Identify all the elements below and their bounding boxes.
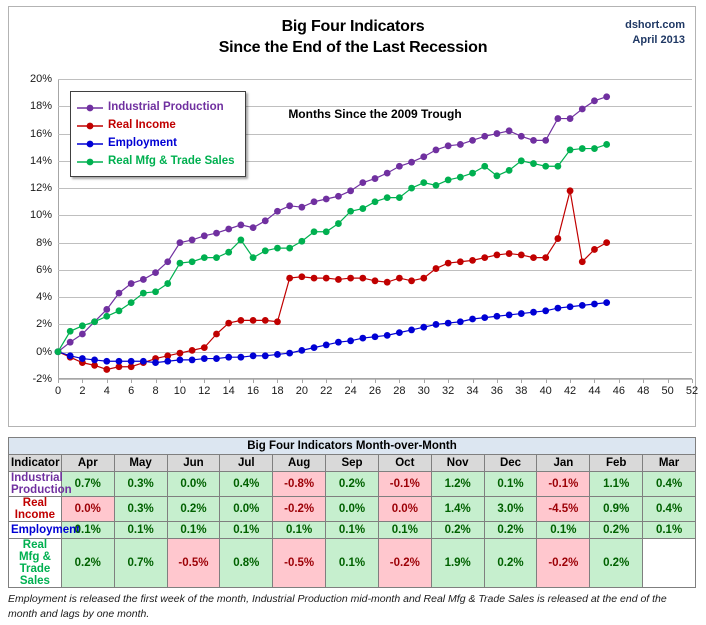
data-point xyxy=(103,358,110,365)
plot-area: -2%0%2%4%6%8%10%12%14%16%18%20% 02468101… xyxy=(58,79,692,379)
data-point xyxy=(445,260,452,267)
x-axis-tick xyxy=(351,379,352,383)
table-cell: 0.2% xyxy=(590,539,643,588)
table-cell: 0.2% xyxy=(167,497,220,522)
data-point xyxy=(579,258,586,265)
x-axis-tick xyxy=(546,379,547,383)
table-cell: -0.1% xyxy=(378,472,431,497)
x-axis-tick xyxy=(204,379,205,383)
data-point xyxy=(250,352,257,359)
data-point xyxy=(481,254,488,261)
column-header-oct: Oct xyxy=(378,455,431,472)
data-point xyxy=(140,276,147,283)
chart-legend: Industrial ProductionReal IncomeEmployme… xyxy=(70,91,246,177)
data-point xyxy=(250,317,257,324)
table-cell: 0.2% xyxy=(61,539,114,588)
data-point xyxy=(323,196,330,203)
data-point xyxy=(579,302,586,309)
column-header-dec: Dec xyxy=(484,455,537,472)
data-point xyxy=(347,337,354,344)
table-cell: 0.3% xyxy=(114,497,167,522)
table-footnote: Employment is released the first week of… xyxy=(8,592,694,622)
data-point xyxy=(152,269,159,276)
column-header-jul: Jul xyxy=(220,455,273,472)
data-point xyxy=(420,179,427,186)
column-header-jan: Jan xyxy=(537,455,590,472)
data-point xyxy=(494,252,501,259)
table-cell: 0.1% xyxy=(484,472,537,497)
x-axis-tick xyxy=(156,379,157,383)
x-axis-tick xyxy=(107,379,108,383)
data-point xyxy=(457,318,464,325)
x-axis-tick xyxy=(521,379,522,383)
data-point xyxy=(530,309,537,316)
chart-title-line2: Since the End of the Last Recession xyxy=(9,37,697,58)
column-header-may: May xyxy=(114,455,167,472)
data-point xyxy=(237,222,244,229)
data-point xyxy=(591,301,598,308)
x-axis-tick xyxy=(619,379,620,383)
x-axis-tick xyxy=(253,379,254,383)
data-point xyxy=(67,328,74,335)
data-point xyxy=(201,344,208,351)
x-axis-tick xyxy=(448,379,449,383)
data-point xyxy=(335,339,342,346)
data-point xyxy=(384,332,391,339)
data-point xyxy=(396,329,403,336)
x-axis-tick-label: 46 xyxy=(613,385,625,397)
row-label: Industrial Production xyxy=(9,472,62,497)
x-axis-tick xyxy=(277,379,278,383)
data-point xyxy=(103,313,110,320)
table-cell: 0.1% xyxy=(220,522,273,539)
data-point xyxy=(250,254,257,261)
table-cell: 0.0% xyxy=(61,497,114,522)
x-axis-tick-label: 16 xyxy=(247,385,259,397)
table-cell: -0.5% xyxy=(273,539,326,588)
x-axis-tick xyxy=(58,379,59,383)
data-point xyxy=(433,147,440,154)
data-point xyxy=(128,299,135,306)
x-axis-tick-label: 20 xyxy=(296,385,308,397)
data-point xyxy=(518,310,525,317)
data-point xyxy=(457,174,464,181)
data-point xyxy=(189,357,196,364)
data-point xyxy=(347,208,354,215)
table-cell: 0.1% xyxy=(326,539,379,588)
x-axis-tick xyxy=(302,379,303,383)
x-axis-tick-label: 22 xyxy=(320,385,332,397)
data-point xyxy=(274,318,281,325)
table-cell: 0.3% xyxy=(114,472,167,497)
data-point xyxy=(116,307,123,314)
x-axis-tick-label: 48 xyxy=(637,385,649,397)
data-point xyxy=(201,254,208,261)
x-axis-tick-label: 12 xyxy=(198,385,210,397)
table-cell: 0.2% xyxy=(431,522,484,539)
data-point xyxy=(323,228,330,235)
data-point xyxy=(177,357,184,364)
data-point xyxy=(554,163,561,170)
table-cell: 0.1% xyxy=(643,522,696,539)
data-point xyxy=(494,172,501,179)
x-axis-tick xyxy=(473,379,474,383)
data-point xyxy=(225,249,232,256)
data-point xyxy=(359,179,366,186)
data-point xyxy=(347,187,354,194)
data-point xyxy=(445,177,452,184)
data-point xyxy=(603,299,610,306)
table-cell: 3.0% xyxy=(484,497,537,522)
screenshot-root: Big Four Indicators Since the End of the… xyxy=(0,0,706,625)
data-point xyxy=(335,193,342,200)
data-point xyxy=(530,160,537,167)
table-cell: 0.7% xyxy=(114,539,167,588)
data-point xyxy=(262,317,269,324)
data-point xyxy=(177,350,184,357)
series-real-income xyxy=(55,187,610,372)
x-axis-title: Months Since the 2009 Trough xyxy=(58,107,692,121)
x-axis-tick xyxy=(375,379,376,383)
table-cell: 0.0% xyxy=(326,497,379,522)
y-axis-tick-label: 16% xyxy=(30,128,52,140)
table-cell: 0.1% xyxy=(114,522,167,539)
x-axis-tick-label: 38 xyxy=(515,385,527,397)
data-point xyxy=(152,288,159,295)
x-axis-tick xyxy=(399,379,400,383)
x-axis-tick xyxy=(326,379,327,383)
data-point xyxy=(91,318,98,325)
data-point xyxy=(189,347,196,354)
table-cell: 0.1% xyxy=(273,522,326,539)
data-point xyxy=(311,198,318,205)
data-point xyxy=(177,260,184,267)
data-point xyxy=(55,348,62,355)
table-cell: -0.8% xyxy=(273,472,326,497)
x-axis-tick-label: 24 xyxy=(344,385,356,397)
table-cell: -0.1% xyxy=(537,472,590,497)
table-cell: 0.1% xyxy=(537,522,590,539)
data-point xyxy=(128,358,135,365)
x-axis-tick xyxy=(180,379,181,383)
column-header-aug: Aug xyxy=(273,455,326,472)
data-point xyxy=(518,252,525,259)
data-point xyxy=(298,238,305,245)
data-point xyxy=(591,145,598,152)
data-point xyxy=(408,277,415,284)
data-point xyxy=(506,127,513,134)
x-axis-tick xyxy=(692,379,693,383)
data-point xyxy=(445,320,452,327)
data-point xyxy=(433,321,440,328)
table-header-row: IndicatorAprMayJunJulAugSepOctNovDecJanF… xyxy=(9,455,696,472)
table-cell: -0.5% xyxy=(167,539,220,588)
data-point xyxy=(274,208,281,215)
month-over-month-panel: Big Four Indicators Month-over-Month Ind… xyxy=(8,437,696,622)
data-point xyxy=(286,275,293,282)
data-point xyxy=(408,159,415,166)
row-label: Employment xyxy=(9,522,62,539)
data-point xyxy=(420,324,427,331)
x-axis-tick-label: 30 xyxy=(418,385,430,397)
x-axis-tick xyxy=(82,379,83,383)
data-point xyxy=(225,320,232,327)
x-axis-tick xyxy=(497,379,498,383)
data-point xyxy=(518,157,525,164)
x-axis-tick-label: 0 xyxy=(55,385,61,397)
data-point xyxy=(237,354,244,361)
data-point xyxy=(311,275,318,282)
data-point xyxy=(494,130,501,137)
data-point xyxy=(201,355,208,362)
y-axis-tick-label: -2% xyxy=(32,373,52,385)
data-point xyxy=(91,357,98,364)
data-point xyxy=(164,280,171,287)
y-axis-tick-label: 0% xyxy=(36,346,52,358)
x-axis-tick xyxy=(643,379,644,383)
data-point xyxy=(494,313,501,320)
data-point xyxy=(554,235,561,242)
data-point xyxy=(116,358,123,365)
data-point xyxy=(213,230,220,237)
table-cell: 1.9% xyxy=(431,539,484,588)
x-axis-tick-label: 50 xyxy=(661,385,673,397)
legend-label: Employment xyxy=(108,137,177,149)
data-point xyxy=(384,194,391,201)
data-point xyxy=(481,133,488,140)
data-point xyxy=(591,97,598,104)
data-point xyxy=(286,245,293,252)
data-point xyxy=(542,137,549,144)
table-cell: 0.8% xyxy=(220,539,273,588)
data-point xyxy=(274,351,281,358)
table-cell: 0.1% xyxy=(326,522,379,539)
x-axis-tick xyxy=(229,379,230,383)
table-row: Industrial Production0.7%0.3%0.0%0.4%-0.… xyxy=(9,472,696,497)
x-axis-tick xyxy=(131,379,132,383)
data-point xyxy=(225,226,232,233)
data-point xyxy=(469,137,476,144)
x-axis-tick xyxy=(570,379,571,383)
data-point xyxy=(567,303,574,310)
x-axis-tick-label: 40 xyxy=(540,385,552,397)
table-title-row: Big Four Indicators Month-over-Month xyxy=(9,438,696,455)
data-point xyxy=(79,331,86,338)
table-cell: 0.2% xyxy=(590,522,643,539)
data-point xyxy=(603,239,610,246)
data-point xyxy=(103,366,110,373)
data-point xyxy=(457,141,464,148)
data-point xyxy=(530,137,537,144)
x-axis-tick-label: 32 xyxy=(442,385,454,397)
data-point xyxy=(262,217,269,224)
data-point xyxy=(469,170,476,177)
data-point xyxy=(359,275,366,282)
data-point xyxy=(542,163,549,170)
month-over-month-table: Big Four Indicators Month-over-Month Ind… xyxy=(8,437,696,588)
data-point xyxy=(177,239,184,246)
x-axis-tick-label: 52 xyxy=(686,385,698,397)
legend-label: Real Mfg & Trade Sales xyxy=(108,155,235,167)
series-line xyxy=(58,303,607,363)
data-point xyxy=(445,142,452,149)
y-axis-tick-label: 20% xyxy=(30,73,52,85)
y-axis-tick-label: 2% xyxy=(36,318,52,330)
data-point xyxy=(286,350,293,357)
data-point xyxy=(542,254,549,261)
legend-marker-icon xyxy=(77,137,103,149)
data-point xyxy=(433,182,440,189)
data-point xyxy=(603,141,610,148)
column-header-jun: Jun xyxy=(167,455,220,472)
data-point xyxy=(481,163,488,170)
data-point xyxy=(567,147,574,154)
x-axis-tick-label: 34 xyxy=(466,385,478,397)
column-header-indicator: Indicator xyxy=(9,455,62,472)
data-point xyxy=(530,254,537,261)
data-point xyxy=(213,331,220,338)
data-point xyxy=(518,133,525,140)
data-point xyxy=(359,205,366,212)
y-axis-tick-label: 4% xyxy=(36,291,52,303)
data-point xyxy=(286,202,293,209)
data-point xyxy=(311,228,318,235)
column-header-sep: Sep xyxy=(326,455,379,472)
table-cell: -4.5% xyxy=(537,497,590,522)
data-point xyxy=(140,358,147,365)
data-point xyxy=(396,194,403,201)
data-point xyxy=(262,247,269,254)
x-axis-tick-label: 14 xyxy=(223,385,235,397)
x-axis-tick-label: 2 xyxy=(79,385,85,397)
x-axis-tick xyxy=(668,379,669,383)
data-point xyxy=(140,290,147,297)
x-axis-tick-label: 26 xyxy=(369,385,381,397)
data-point xyxy=(384,279,391,286)
y-axis-tick-label: 10% xyxy=(30,209,52,221)
y-axis-tick-label: 14% xyxy=(30,155,52,167)
data-point xyxy=(372,277,379,284)
data-point xyxy=(347,275,354,282)
data-point xyxy=(384,170,391,177)
data-point xyxy=(164,358,171,365)
data-point xyxy=(213,355,220,362)
data-point xyxy=(79,322,86,329)
table-cell xyxy=(643,539,696,588)
y-axis-tick-label: 12% xyxy=(30,182,52,194)
table-cell: 1.1% xyxy=(590,472,643,497)
data-point xyxy=(298,273,305,280)
table-cell: 1.2% xyxy=(431,472,484,497)
data-point xyxy=(189,258,196,265)
x-axis-tick-label: 28 xyxy=(393,385,405,397)
table-cell: 0.4% xyxy=(643,472,696,497)
table-cell: -0.2% xyxy=(273,497,326,522)
column-header-mar: Mar xyxy=(643,455,696,472)
data-point xyxy=(250,224,257,231)
data-point xyxy=(420,275,427,282)
data-point xyxy=(469,257,476,264)
chart-title: Big Four Indicators Since the End of the… xyxy=(9,16,697,58)
table-cell: -0.2% xyxy=(378,539,431,588)
y-axis-tick-label: 6% xyxy=(36,264,52,276)
table-cell: 1.4% xyxy=(431,497,484,522)
table-cell: 0.0% xyxy=(378,497,431,522)
data-point xyxy=(396,163,403,170)
data-point xyxy=(579,145,586,152)
table-cell: 0.1% xyxy=(167,522,220,539)
data-point xyxy=(116,290,123,297)
data-point xyxy=(79,355,86,362)
x-axis-tick xyxy=(594,379,595,383)
y-axis-tick-label: 8% xyxy=(36,237,52,249)
data-point xyxy=(481,314,488,321)
data-point xyxy=(603,93,610,100)
legend-item[interactable]: Employment xyxy=(77,134,235,152)
table-cell: 0.2% xyxy=(484,539,537,588)
data-point xyxy=(408,327,415,334)
row-label: Real Income xyxy=(9,497,62,522)
x-axis-tick-label: 44 xyxy=(588,385,600,397)
x-axis-tick xyxy=(424,379,425,383)
data-point xyxy=(469,316,476,323)
data-point xyxy=(567,187,574,194)
data-point xyxy=(298,347,305,354)
credit-source: dshort.com xyxy=(625,18,685,33)
data-point xyxy=(67,339,74,346)
data-point xyxy=(152,359,159,366)
table-cell: 0.1% xyxy=(378,522,431,539)
data-point xyxy=(359,335,366,342)
data-point xyxy=(554,305,561,312)
data-point xyxy=(591,246,598,253)
data-point xyxy=(298,204,305,211)
data-point xyxy=(372,175,379,182)
data-point xyxy=(372,333,379,340)
x-axis-tick-label: 42 xyxy=(564,385,576,397)
data-point xyxy=(396,275,403,282)
data-point xyxy=(189,237,196,244)
data-point xyxy=(323,342,330,349)
series-employment xyxy=(55,299,610,366)
x-axis-tick-label: 6 xyxy=(128,385,134,397)
data-point xyxy=(128,280,135,287)
x-axis-tick-label: 18 xyxy=(271,385,283,397)
table-title: Big Four Indicators Month-over-Month xyxy=(9,438,696,455)
y-axis-tick-label: 18% xyxy=(30,100,52,112)
data-point xyxy=(225,354,232,361)
data-point xyxy=(335,220,342,227)
data-point xyxy=(372,198,379,205)
x-axis-tick-label: 10 xyxy=(174,385,186,397)
data-point xyxy=(506,312,513,319)
x-axis-tick-label: 4 xyxy=(104,385,110,397)
data-point xyxy=(506,250,513,257)
column-header-feb: Feb xyxy=(590,455,643,472)
data-point xyxy=(237,237,244,244)
table-cell: -0.2% xyxy=(537,539,590,588)
data-point xyxy=(237,317,244,324)
data-point xyxy=(457,258,464,265)
data-point xyxy=(542,307,549,314)
data-point xyxy=(408,185,415,192)
data-point xyxy=(201,232,208,239)
data-point xyxy=(262,352,269,359)
table-cell: 0.2% xyxy=(484,522,537,539)
data-point xyxy=(274,245,281,252)
legend-item[interactable]: Real Mfg & Trade Sales xyxy=(77,152,235,170)
table-cell: 0.0% xyxy=(220,497,273,522)
